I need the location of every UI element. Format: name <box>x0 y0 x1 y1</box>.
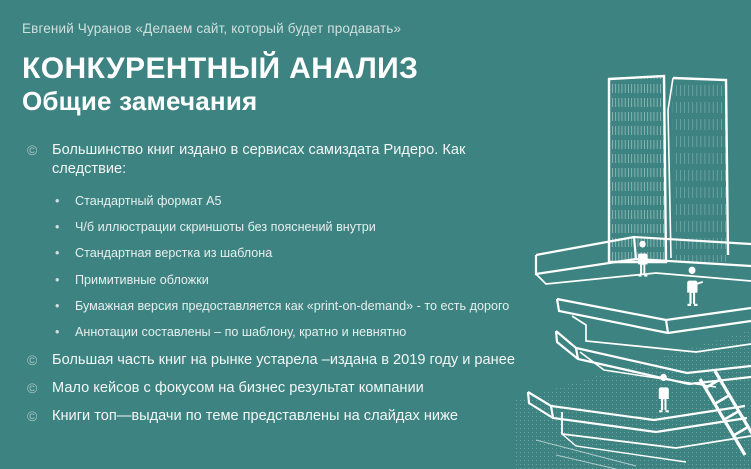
figure-person-lower <box>659 374 669 412</box>
sub-bullet-group: •Стандартный формат А5•Ч/б иллюстрации с… <box>22 193 522 341</box>
bullet-dot-icon: • <box>55 245 59 261</box>
page-title: КОНКУРЕНТНЫЙ АНАЛИЗ Общие замечания <box>22 52 418 116</box>
list-item-level1: ©Мало кейсов с фокусом на бизнес результ… <box>22 379 522 398</box>
list-item-level1: ©Книги топ—выдачи по теме представлены н… <box>22 407 522 426</box>
bullet-dot-icon: • <box>55 272 59 288</box>
bullet-dot-icon: • <box>55 219 59 235</box>
list-item-level1: ©Большинство книг издано в сервисах сами… <box>22 141 522 180</box>
title-line-1: КОНКУРЕНТНЫЙ АНАЛИЗ <box>22 52 418 86</box>
bullet-copyright-icon: © <box>27 407 37 425</box>
bullet-copyright-icon: © <box>27 141 37 159</box>
architecture-line-art-illustration <box>516 0 751 469</box>
list-item-label: Ч/б иллюстрации скриншоты без пояснений … <box>75 220 376 234</box>
bullet-dot-icon: • <box>55 298 59 314</box>
list-item-level2: •Стандартная верстка из шаблона <box>22 245 522 261</box>
list-item-label: Бумажная версия предоставляется как «pri… <box>75 299 509 313</box>
bullet-copyright-icon: © <box>27 351 37 369</box>
list-item-label: Стандартный формат А5 <box>75 194 222 208</box>
terrace-level-1 <box>536 237 751 284</box>
bullet-list: ©Большинство книг издано в сервисах сами… <box>22 141 522 435</box>
figure-person-upper <box>638 241 647 277</box>
list-item-label: Стандартная верстка из шаблона <box>75 246 272 260</box>
title-line-2: Общие замечания <box>22 86 418 117</box>
list-item-level2: •Стандартный формат А5 <box>22 193 522 209</box>
list-item-label: Книги топ—выдачи по теме представлены на… <box>52 408 458 424</box>
bullet-copyright-icon: © <box>27 379 37 397</box>
list-item-level2: •Аннотации составлены – по шаблону, крат… <box>22 324 522 340</box>
list-item-level2: •Бумажная версия предоставляется как «pr… <box>22 298 522 314</box>
tower-left <box>606 76 670 266</box>
lower-guide-lines <box>536 440 636 469</box>
list-item-label: Аннотации составлены – по шаблону, кратн… <box>75 325 406 339</box>
list-item-level2: •Примитивные обложки <box>22 272 522 288</box>
bullet-dot-icon: • <box>55 324 59 340</box>
list-item-label: Большая часть книг на рынке устарела –из… <box>52 352 515 368</box>
list-item-level2: •Ч/б иллюстрации скриншоты без пояснений… <box>22 219 522 235</box>
terrace-level-3 <box>556 331 751 387</box>
figure-person-middle <box>687 267 703 306</box>
list-item-label: Большинство книг издано в сервисах самиз… <box>52 142 465 177</box>
diagonal-ladder <box>700 371 751 455</box>
list-item-label: Примитивные обложки <box>75 273 209 287</box>
ground-texture <box>516 330 751 469</box>
list-item-level1: ©Большая часть книг на рынке устарела –и… <box>22 351 522 370</box>
slide-text-column: Евгений Чуранов «Делаем сайт, который бу… <box>0 0 530 469</box>
tower-right <box>668 76 730 266</box>
list-item-label: Мало кейсов с фокусом на бизнес результа… <box>52 380 424 396</box>
presentation-slide: Евгений Чуранов «Делаем сайт, который бу… <box>0 0 751 469</box>
bullet-dot-icon: • <box>55 193 59 209</box>
terrace-level-2 <box>557 299 751 352</box>
slide-kicker: Евгений Чуранов «Делаем сайт, который бу… <box>22 21 401 36</box>
terrace-level-4 <box>528 392 751 462</box>
